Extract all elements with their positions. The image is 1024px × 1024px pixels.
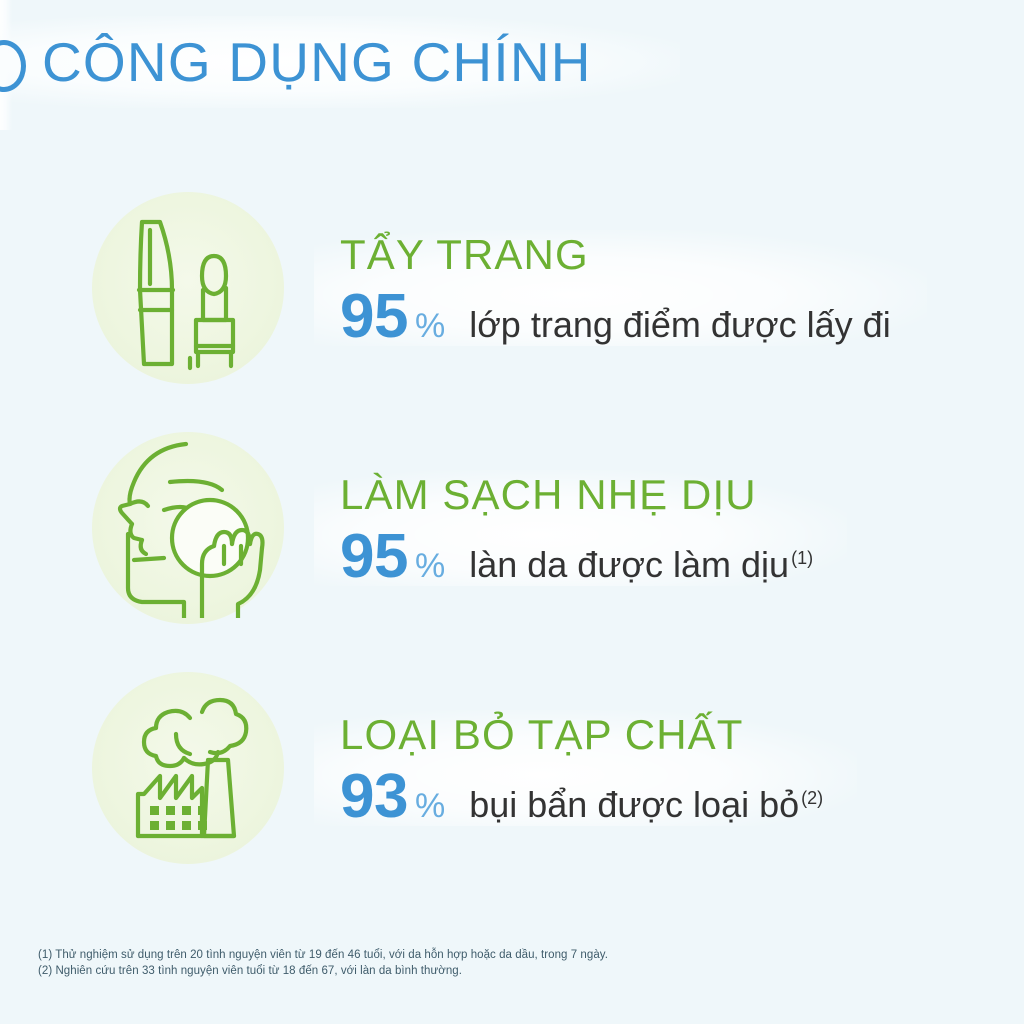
footnote-marker: (1) <box>791 548 813 568</box>
benefit-text: TẨY TRANG 95 % lớp trang điểm được lấy đ… <box>340 226 893 350</box>
stat-percent-sign: % <box>415 546 445 586</box>
factory-pollution-icon <box>98 678 278 858</box>
footnotes: (1) Thử nghiệm sử dụng trên 20 tình nguy… <box>38 948 938 979</box>
stat-caption: làn da được làm dịu(1) <box>469 537 813 586</box>
face-cotton-pad-icon <box>98 438 278 618</box>
makeup-lipstick-icon <box>98 198 278 378</box>
stat-percent-sign: % <box>415 786 445 826</box>
benefit-text: LOẠI BỎ TẠP CHẤT 93 % bụi bẩn được loại … <box>340 706 823 830</box>
benefit-list: TẨY TRANG 95 % lớp trang điểm được lấy đ… <box>0 168 1024 888</box>
stat-number: 95 <box>340 524 408 590</box>
footnote-1: (1) Thử nghiệm sử dụng trên 20 tình nguy… <box>38 948 938 964</box>
stat-caption: lớp trang điểm được lấy đi <box>469 297 893 346</box>
stat-number: 93 <box>340 764 408 830</box>
stat-number: 95 <box>340 284 408 350</box>
benefit-stat: 93 % bụi bẩn được loại bỏ(2) <box>340 764 823 830</box>
benefit-stat: 95 % lớp trang điểm được lấy đi <box>340 284 893 350</box>
benefit-stat: 95 % làn da được làm dịu(1) <box>340 524 813 590</box>
stat-caption-text: bụi bẩn được loại bỏ <box>469 784 799 825</box>
benefit-title: LÀM SẠCH NHẸ DỊU <box>340 470 813 520</box>
infographic-page: CÔNG DỤNG CHÍNH <box>0 0 1024 1024</box>
stat-caption-text: làn da được làm dịu <box>469 544 789 585</box>
benefit-title: TẨY TRANG <box>340 230 893 280</box>
page-title: CÔNG DỤNG CHÍNH <box>42 30 592 94</box>
footnote-marker: (2) <box>801 788 823 808</box>
benefit-icon-wrap <box>88 188 288 388</box>
benefit-icon-wrap <box>88 428 288 628</box>
benefit-title: LOẠI BỎ TẠP CHẤT <box>340 710 823 760</box>
benefit-row: LÀM SẠCH NHẸ DỊU 95 % làn da được làm dị… <box>0 408 1024 648</box>
stat-caption: bụi bẩn được loại bỏ(2) <box>469 777 823 826</box>
footnote-2: (2) Nghiên cứu trên 33 tình nguyện viên … <box>38 964 938 980</box>
benefit-row: TẨY TRANG 95 % lớp trang điểm được lấy đ… <box>0 168 1024 408</box>
benefit-icon-wrap <box>88 668 288 868</box>
benefit-row: LOẠI BỎ TẠP CHẤT 93 % bụi bẩn được loại … <box>0 648 1024 888</box>
benefit-text: LÀM SẠCH NHẸ DỊU 95 % làn da được làm dị… <box>340 466 813 590</box>
stat-percent-sign: % <box>415 306 445 346</box>
page-header: CÔNG DỤNG CHÍNH <box>0 16 1024 108</box>
stat-caption-text: lớp trang điểm được lấy đi <box>469 304 891 345</box>
